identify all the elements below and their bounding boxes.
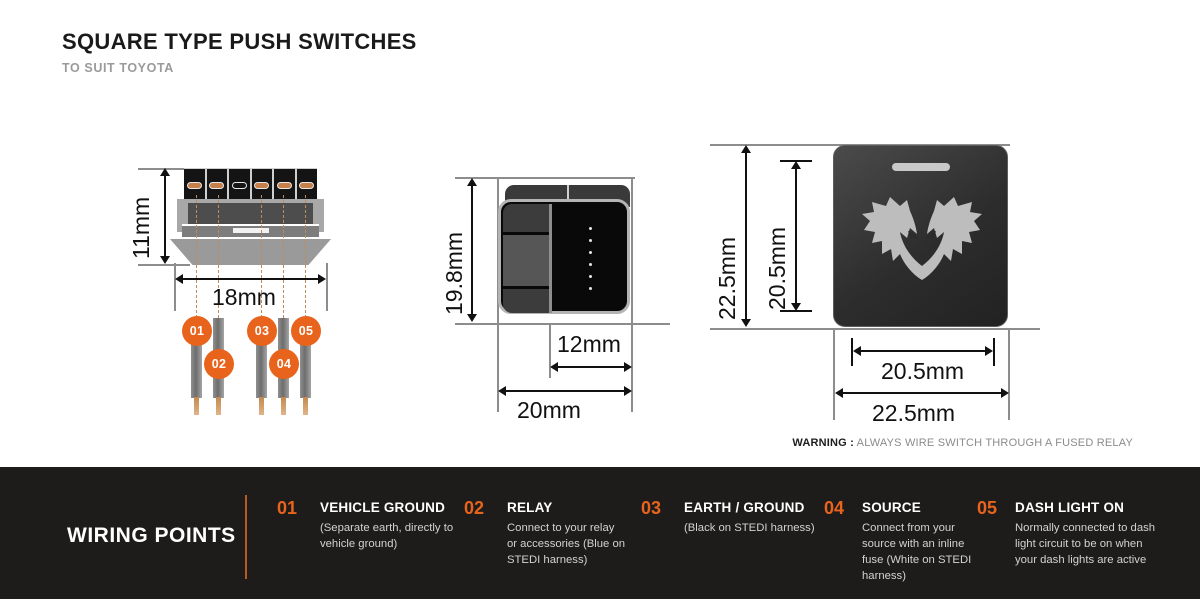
trace-line-05 xyxy=(305,195,306,323)
terminal-slot xyxy=(207,169,228,202)
wiring-point-desc: Connect from your source with an inline … xyxy=(862,520,972,584)
wiring-point-title: SOURCE xyxy=(862,500,921,515)
dim-arrow-11mm xyxy=(164,175,166,257)
dim-label-20mm: 20mm xyxy=(517,397,581,424)
wiring-point-title: VEHICLE GROUND xyxy=(320,500,445,515)
dim-arrow-12mm xyxy=(557,366,625,368)
warning-prefix: WARNING : xyxy=(792,437,854,449)
terminal-pin xyxy=(299,182,314,189)
footer-title: WIRING POINTS xyxy=(67,524,236,548)
ext-line-bot-11mm xyxy=(138,264,190,266)
trace-line-01 xyxy=(196,195,197,323)
wiring-points-footer: WIRING POINTS 01 VEHICLE GROUND (Separat… xyxy=(0,467,1200,599)
wiring-point-desc: (Separate earth, directly to vehicle gro… xyxy=(320,520,455,552)
switch-side-panel-bottom xyxy=(503,289,551,313)
ext-line-right-18mm xyxy=(326,263,328,311)
wiring-point-desc: Normally connected to dash light circuit… xyxy=(1015,520,1157,568)
switch-side-seam xyxy=(549,204,552,313)
dim-label-20-5mm-h: 20.5mm xyxy=(881,358,964,385)
terminal-pin xyxy=(277,182,292,189)
switch-side-ridge-dots xyxy=(589,227,592,299)
terminal-pin xyxy=(254,182,269,189)
led-indicator-bar-icon xyxy=(892,163,950,171)
page-title: SQUARE TYPE PUSH SWITCHES xyxy=(62,30,417,54)
wiring-point-title: RELAY xyxy=(507,500,553,515)
dim-label-22-5mm-h: 22.5mm xyxy=(872,400,955,427)
dim-arrow-20mm xyxy=(505,390,625,392)
dim-arrow-20-5mm-h xyxy=(860,350,986,352)
warning-note: WARNING : ALWAYS WIRE SWITCH THROUGH A F… xyxy=(792,437,1133,449)
warning-text: ALWAYS WIRE SWITCH THROUGH A FUSED RELAY xyxy=(854,437,1133,449)
dim-arrow-22-5mm-v xyxy=(745,152,747,320)
terminal-block xyxy=(184,169,317,202)
page-header: SQUARE TYPE PUSH SWITCHES TO SUIT TOYOTA xyxy=(62,30,417,75)
wire-badge-04: 04 xyxy=(269,349,299,379)
wiring-point-number: 02 xyxy=(464,498,484,519)
guide-line-left xyxy=(833,328,835,420)
terminal-slot xyxy=(184,169,205,202)
wire-badge-01: 01 xyxy=(182,316,212,346)
guide-line-mid xyxy=(710,328,1040,330)
switch-side-panel-middle xyxy=(503,235,551,286)
wire-badge-05: 05 xyxy=(291,316,321,346)
dim-label-11mm: 11mm xyxy=(128,197,155,259)
terminal-slot xyxy=(274,169,295,202)
connector-diagram: 11mm 18mm 01 xyxy=(120,155,380,475)
switch-front-face xyxy=(833,145,1008,327)
terminal-pin-empty xyxy=(232,182,247,189)
dim-label-18mm: 18mm xyxy=(212,284,276,311)
dim-label-12mm: 12mm xyxy=(557,331,621,358)
guide-line-right xyxy=(1008,328,1010,420)
dim-arrow-20-5mm-v xyxy=(795,168,797,304)
wiring-point-number: 05 xyxy=(977,498,997,519)
terminal-pin xyxy=(187,182,202,189)
footer-divider xyxy=(245,495,247,579)
guide-line-mid xyxy=(455,323,670,325)
terminal-pin xyxy=(209,182,224,189)
dim-arrow-19-8mm xyxy=(471,185,473,315)
wiring-point-desc: (Black on STEDI harness) xyxy=(684,520,829,536)
terminal-slot-empty xyxy=(229,169,250,202)
connector-inner-recess xyxy=(188,203,313,225)
wire-badge-03: 03 xyxy=(247,316,277,346)
connector-label-strip xyxy=(233,228,269,233)
ext-line-left-18mm xyxy=(174,263,176,311)
wiring-point-number: 01 xyxy=(277,498,297,519)
wire-badge-02: 02 xyxy=(204,349,234,379)
front-view-diagram: 22.5mm 20.5mm 20.5mm 22.5mm xyxy=(705,120,1135,470)
dim-arrow-18mm xyxy=(182,278,319,280)
trace-line-04 xyxy=(283,195,284,323)
connector-skirt xyxy=(170,239,331,265)
dim-arrow-22-5mm-h xyxy=(842,392,1002,394)
dim-label-22-5mm-v: 22.5mm xyxy=(714,237,741,320)
page-subtitle: TO SUIT TOYOTA xyxy=(62,61,417,75)
wiring-point-title: EARTH / GROUND xyxy=(684,500,805,515)
wiring-point-title: DASH LIGHT ON xyxy=(1015,500,1124,515)
wiring-point-number: 03 xyxy=(641,498,661,519)
guide-line-right xyxy=(631,177,633,412)
guide-line-top xyxy=(455,177,635,179)
wiring-point-number: 04 xyxy=(824,498,844,519)
side-view-diagram: 19.8mm 12mm 20mm xyxy=(445,155,675,475)
terminal-slot xyxy=(297,169,318,202)
dim-label-20-5mm-v: 20.5mm xyxy=(764,227,791,310)
wiring-point-desc: Connect to your relay or accessories (Bl… xyxy=(507,520,627,568)
diagram-area: 11mm 18mm 01 xyxy=(0,110,1200,460)
switch-side-panel-top xyxy=(503,204,551,232)
owl-logo-icon xyxy=(860,194,984,280)
tick-right-20-5mm xyxy=(993,338,995,366)
dim-label-19-8mm: 19.8mm xyxy=(441,232,468,315)
